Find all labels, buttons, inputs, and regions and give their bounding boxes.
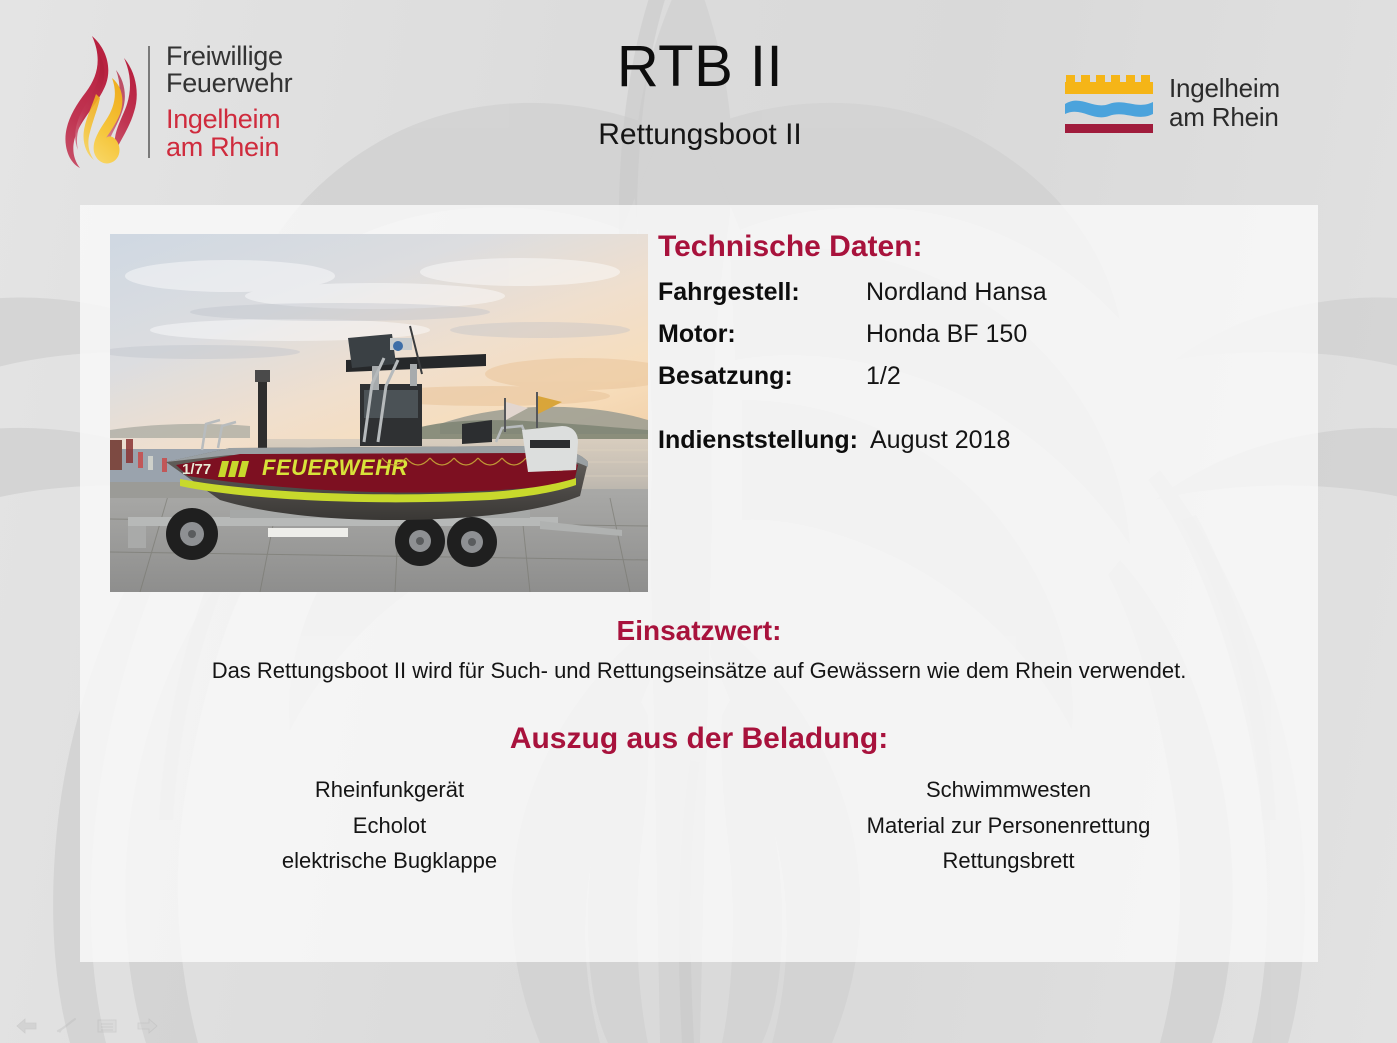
city-crest-icon xyxy=(1063,70,1155,136)
city-wordmark: Ingelheim am Rhein xyxy=(1169,74,1280,132)
next-slide-arrow-icon[interactable] xyxy=(136,1017,158,1035)
boat-photo: FEUERWEHR 1/77 Stadt Ingelheim am Rhein xyxy=(110,234,648,592)
list-item: Material zur Personenrettung xyxy=(699,808,1318,844)
page-subtitle: Rettungsboot II xyxy=(430,118,970,152)
logo-divider xyxy=(148,46,150,158)
equipment-column-right: Schwimmwesten Material zur Personenrettu… xyxy=(699,772,1318,879)
spec-value-chassis: Nordland Hansa xyxy=(866,278,1047,307)
fire-department-wordmark: Freiwillige Feuerwehr Ingelheim am Rhein xyxy=(166,43,292,161)
spec-label-commission: Indienststellung: xyxy=(658,426,858,455)
city-line1: Ingelheim xyxy=(1169,74,1280,103)
purpose-text: Das Rettungsboot II wird für Such- und R… xyxy=(80,658,1318,684)
ffw-line3: Ingelheim xyxy=(166,106,292,134)
title-block: RTB II Rettungsboot II xyxy=(430,38,970,152)
spec-value-crew: 1/2 xyxy=(866,362,901,391)
fire-department-logo: Freiwillige Feuerwehr Ingelheim am Rhein xyxy=(62,28,362,176)
equipment-columns: Rheinfunkgerät Echolot elektrische Bugkl… xyxy=(80,772,1318,879)
spec-row-chassis: Fahrgestell: Nordland Hansa xyxy=(658,278,1258,307)
ffw-line4: am Rhein xyxy=(166,134,292,162)
equipment-heading: Auszug aus der Beladung: xyxy=(80,722,1318,756)
spec-row-commission: Indienststellung: August 2018 xyxy=(658,426,1258,455)
list-item: Rheinfunkgerät xyxy=(80,772,699,808)
city-line2: am Rhein xyxy=(1169,103,1280,132)
spec-label-crew: Besatzung: xyxy=(658,362,866,391)
technical-data-heading: Technische Daten: xyxy=(658,230,1258,264)
purpose-heading: Einsatzwert: xyxy=(80,615,1318,647)
spec-row-crew: Besatzung: 1/2 xyxy=(658,362,1258,391)
ffw-line1: Freiwillige xyxy=(166,43,292,71)
flame-icon xyxy=(62,32,140,172)
city-logo: Ingelheim am Rhein xyxy=(1063,66,1313,140)
boat-photo-image: FEUERWEHR 1/77 Stadt Ingelheim am Rhein xyxy=(110,234,648,592)
spec-label-chassis: Fahrgestell: xyxy=(658,278,866,307)
slide-menu-icon[interactable] xyxy=(96,1017,118,1035)
equipment-column-left: Rheinfunkgerät Echolot elektrische Bugkl… xyxy=(80,772,699,879)
page-title: RTB II xyxy=(430,38,970,96)
ffw-line2: Feuerwehr xyxy=(166,70,292,98)
list-item: Rettungsbrett xyxy=(699,843,1318,879)
list-item: Schwimmwesten xyxy=(699,772,1318,808)
previous-slide-arrow-icon[interactable] xyxy=(16,1017,38,1035)
slide-header: Freiwillige Feuerwehr Ingelheim am Rhein… xyxy=(0,0,1397,205)
presenter-toolbar[interactable] xyxy=(16,1017,158,1035)
spec-label-engine: Motor: xyxy=(658,320,866,349)
spec-value-engine: Honda BF 150 xyxy=(866,320,1027,349)
technical-data-section: Technische Daten: Fahrgestell: Nordland … xyxy=(658,230,1258,468)
list-item: elektrische Bugklappe xyxy=(80,843,699,879)
equipment-section: Auszug aus der Beladung: Rheinfunkgerät … xyxy=(80,722,1318,879)
spec-row-engine: Motor: Honda BF 150 xyxy=(658,320,1258,349)
list-item: Echolot xyxy=(80,808,699,844)
boat-number-text: 1/77 xyxy=(182,461,211,478)
purpose-section: Einsatzwert: Das Rettungsboot II wird fü… xyxy=(80,615,1318,684)
boat-marking-text: FEUERWEHR xyxy=(262,455,408,480)
pen-tool-icon[interactable] xyxy=(56,1017,78,1035)
spec-value-commission: August 2018 xyxy=(870,426,1010,455)
